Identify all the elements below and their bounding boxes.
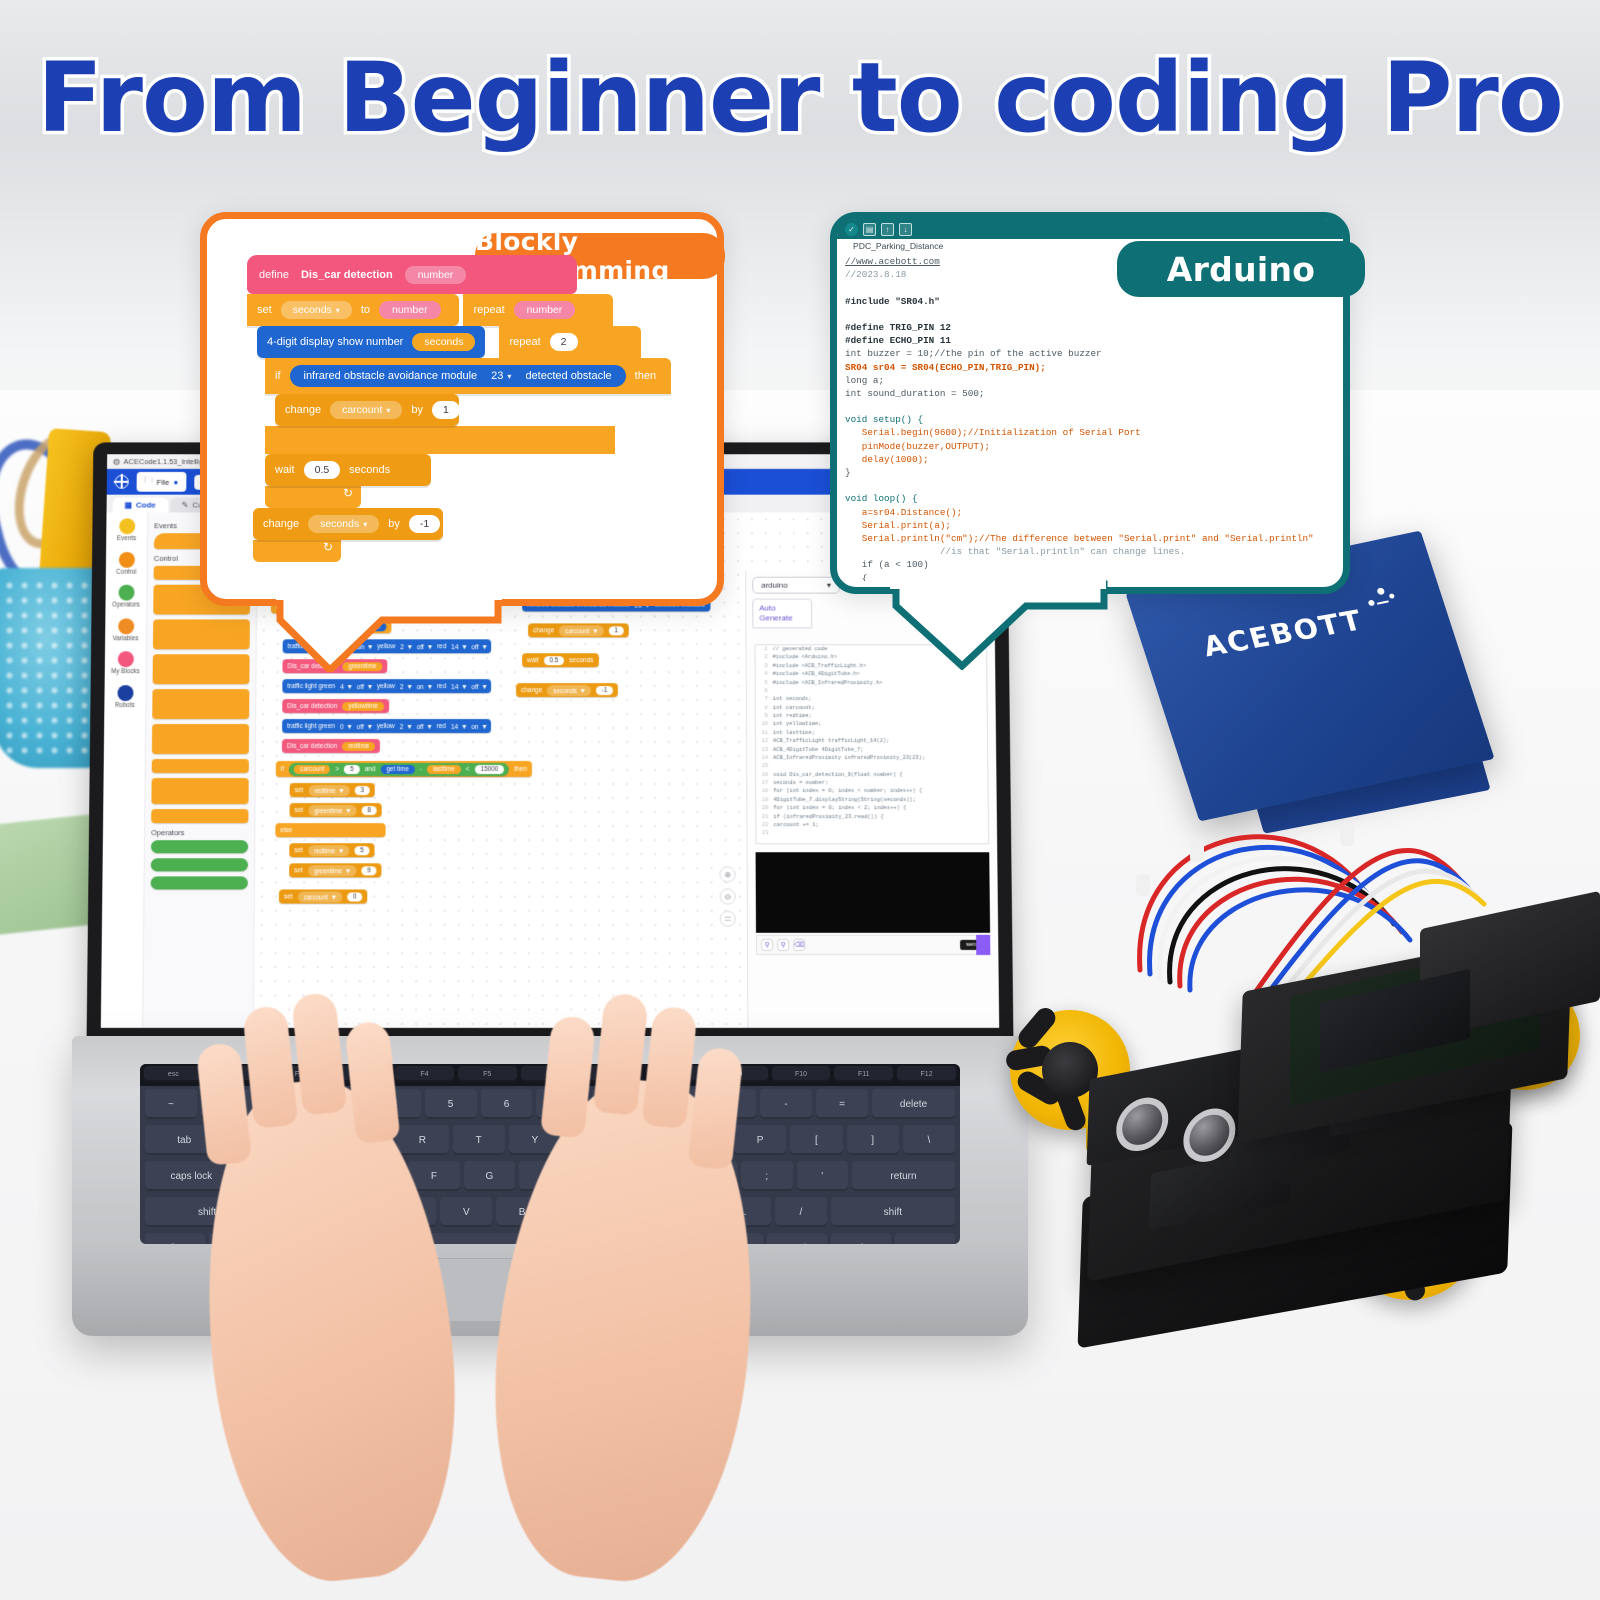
code-line-20: Serial.print(a); <box>845 520 951 531</box>
code-text: for (int index = 0; index < number; inde… <box>773 787 922 795</box>
palette-block-operator-1[interactable] <box>151 840 248 853</box>
canvas-redtime-5: 5 <box>354 846 370 855</box>
canvas-block-set-redtime[interactable]: set redtime 3 <box>290 783 375 797</box>
key-f4[interactable]: F4 <box>395 1066 454 1082</box>
code-text: int yellowtime; <box>773 720 822 728</box>
canvas-cond-gettime[interactable]: get time <box>380 765 414 774</box>
define-param[interactable]: number <box>405 266 467 284</box>
key-f5[interactable]: F5 <box>458 1066 517 1082</box>
events-dot-icon <box>119 518 135 534</box>
canvas-carcount-0: 0 <box>347 892 363 901</box>
code-text: int redtime; <box>773 712 812 720</box>
canvas-traffic-y3s[interactable]: off <box>416 722 431 731</box>
canvas-traffic-label-2: traffic light green <box>287 683 335 690</box>
canvas-traffic-r2s[interactable]: off <box>471 682 486 691</box>
canvas-var-redtime-2[interactable]: redtime <box>308 845 349 856</box>
code-line-7: int buzzer = 10;//the pin of the active … <box>845 348 1102 359</box>
code-text: #include <ACB_InfraredProximity.h> <box>773 679 883 687</box>
canvas-col2-change2-label: change <box>521 687 542 694</box>
code-text: ACB_InfraredProximity infraredProximity_… <box>773 754 925 762</box>
code-line-23: if (a < 100) <box>845 559 929 570</box>
acebott-logo-icon <box>1364 585 1400 612</box>
key-f12[interactable]: F12 <box>897 1066 956 1082</box>
canvas-traffic-r3l: red <box>437 723 446 730</box>
repeat2-loop-arrow-icon: ↻ <box>265 486 361 508</box>
code-text: // generated code <box>772 645 827 653</box>
blockly-callout: Blockly Programming define Dis_car detec… <box>200 212 724 606</box>
canvas-traffic-g2[interactable]: 4 <box>340 682 352 691</box>
canvas-block-set-greentime-2[interactable]: set greentime 9 <box>289 863 382 877</box>
key-delete[interactable]: delete <box>872 1089 955 1119</box>
canvas-col2-by-neg1: -1 <box>596 686 614 695</box>
repeat2-value[interactable]: 2 <box>550 333 578 351</box>
tab-code-label: Code <box>136 501 156 510</box>
canvas-col2-wait-unit: seconds <box>569 657 593 664</box>
brush-icon: ✎ <box>182 501 189 510</box>
canvas-cond-and: and <box>365 766 376 773</box>
new-file-icon[interactable]: ▤ <box>863 223 876 236</box>
canvas-col2-change-label: change <box>533 627 554 634</box>
key-5[interactable]: 5 <box>425 1089 477 1119</box>
key-esc[interactable]: esc <box>144 1066 203 1082</box>
palette-block-forever[interactable] <box>153 619 250 649</box>
key-fn[interactable]: fn <box>145 1233 205 1244</box>
code-text: void Dis_car_detection_9(float number) { <box>773 771 903 779</box>
code-text: #include <ACB_TrafficLight.h> <box>773 662 867 670</box>
repeat-value[interactable]: number <box>514 301 576 319</box>
robots-label: Robots <box>115 703 135 710</box>
code-text: ACB_4DigitTube 4DigitTube_7; <box>773 745 864 753</box>
canvas-traffic-label-3: traffic light green <box>287 723 335 730</box>
canvas-greentime-9: 9 <box>361 866 377 875</box>
palette-block-operator-2[interactable] <box>151 858 248 871</box>
category-column: Events Control Operators Variables <box>101 512 148 1027</box>
display-label: 4-digit display show number <box>267 336 403 348</box>
palette-block-wait-until[interactable] <box>152 759 249 773</box>
upload-icon[interactable]: ↑ <box>881 223 894 236</box>
key-backslash[interactable]: \ <box>903 1125 955 1155</box>
change2-by-label: by <box>388 518 400 530</box>
set-label: set <box>257 304 272 316</box>
canvas-traffic-y2[interactable]: 2 <box>400 682 412 691</box>
code-line-21: Serial.println("cm");//The difference be… <box>845 533 1314 544</box>
code-line-10: int sound_duration = 500; <box>845 388 984 399</box>
code-line-6: #define ECHO_PIN 11 <box>845 335 951 346</box>
canvas-traffic-r2[interactable]: 14 <box>451 682 466 691</box>
code-line-5: #define TRIG_PIN 12 <box>845 322 951 333</box>
code-text: ACB_TrafficLight trafficLight_14(2); <box>773 737 890 745</box>
key-semicolon[interactable]: ; <box>741 1161 792 1191</box>
code-line-16: } <box>845 467 851 478</box>
canvas-cond-lt: < <box>466 766 470 773</box>
key-equal[interactable]: = <box>816 1089 868 1119</box>
key-quote[interactable]: ' <box>797 1161 848 1191</box>
if-label: if <box>275 370 281 382</box>
code-line: 10int yellowtime; <box>756 720 987 728</box>
clear-icon[interactable]: ⌫ <box>793 939 805 951</box>
code-line: 14ACB_InfraredProximity infraredProximit… <box>756 754 987 762</box>
canvas-traffic-g3s[interactable]: off <box>357 722 372 731</box>
canvas-set-greentime-label: set <box>295 807 304 814</box>
key-p[interactable]: P <box>734 1125 786 1155</box>
change-label: change <box>285 404 321 416</box>
canvas-col2-carcount[interactable]: carcount <box>559 625 603 636</box>
palette-heading-operators: Operators <box>151 828 248 837</box>
tab-code[interactable]: ▦ Code <box>112 498 167 513</box>
arduino-code[interactable]: //www.acebott.com //2023.8.18 #include "… <box>845 255 1333 581</box>
canvas-block-set-carcount-0[interactable]: set carcount 0 <box>279 889 368 903</box>
chevron-down-icon: ▾ <box>827 581 831 590</box>
canvas-traffic-r2l: red <box>437 683 446 690</box>
code-line-13: Serial.begin(9600);//Initialization of S… <box>845 427 1141 438</box>
key-slash[interactable]: / <box>775 1197 827 1227</box>
code-line: 12ACB_TrafficLight trafficLight_14(2); <box>756 737 987 745</box>
my-blocks-dot-icon <box>117 652 133 668</box>
book-brand-label: ACEBOTT <box>1199 604 1366 664</box>
canvas-col2-seconds-var[interactable]: seconds <box>547 685 590 696</box>
operators-dot-icon <box>118 585 134 601</box>
generated-code-preview[interactable]: 1// generated code 2#include <Arduino.h>… <box>755 644 990 844</box>
key-v[interactable]: V <box>440 1197 492 1227</box>
change-value[interactable]: 1 <box>432 401 460 419</box>
canvas-cond-gt: > <box>335 766 339 773</box>
code-line: 22 carcount += 1; <box>756 821 988 829</box>
code-line-15: delay(1000); <box>845 454 929 465</box>
code-line-9: long a; <box>845 375 884 386</box>
code-line: 7int seconds; <box>756 695 987 703</box>
block-ir-condition[interactable]: infrared obstacle avoidance module 23 de… <box>290 365 626 387</box>
palette-block-else[interactable] <box>152 724 249 754</box>
set-to-label: to <box>361 304 370 316</box>
key-g[interactable]: G <box>464 1161 515 1191</box>
canvas-block-col2-change2[interactable]: change seconds -1 <box>516 683 618 697</box>
key-r[interactable]: R <box>396 1125 448 1155</box>
canvas-block-traffic-2[interactable]: traffic light green 4 off yellow 2 on re… <box>282 679 491 693</box>
code-line-1: //2023.8.18 <box>845 269 906 280</box>
mode-select[interactable]: arduino ▾ <box>752 577 840 594</box>
canvas-block-set-redtime-2[interactable]: set redtime 5 <box>289 843 375 857</box>
code-line-14: pinMode(buzzer,OUTPUT); <box>845 441 990 452</box>
block-define-inner: define Dis_car detection number <box>259 266 466 284</box>
arduino-toolbar: ✓ ▤ ↑ ↓ <box>837 219 1343 239</box>
canvas-traffic-y2s[interactable]: on <box>417 682 432 691</box>
save-icon[interactable]: ↓ <box>899 223 912 236</box>
my-blocks-label: My Blocks <box>111 670 140 677</box>
palette-block-operator-3[interactable] <box>151 876 248 889</box>
canvas-block-set-greentime[interactable]: set greentime 8 <box>290 803 382 817</box>
canvas-dis-label-3: Dis_car detection <box>287 742 337 749</box>
code-line: 8int carcount; <box>756 704 987 712</box>
canvas-traffic-g2s[interactable]: off <box>357 682 372 691</box>
wait-label: wait <box>275 464 295 476</box>
change2-variable[interactable]: seconds <box>308 515 379 533</box>
control-dot-icon <box>118 552 134 568</box>
canvas-traffic-y3l: yellow <box>377 723 395 730</box>
palette-block-if[interactable] <box>153 654 250 684</box>
code-text: if (infraredProximity_23.read()) { <box>773 813 883 821</box>
auto-generate-button[interactable]: Auto Generate <box>752 599 812 629</box>
change-variable[interactable]: carcount <box>330 401 402 419</box>
globe-icon[interactable] <box>115 475 129 489</box>
canvas-block-traffic-3[interactable]: traffic light green 0 off yellow 2 off r… <box>282 719 491 733</box>
canvas-dis-label-2: Dis_car detection <box>287 703 337 710</box>
code-line: 19 4DigitTube_7.displayString(String(sec… <box>756 796 987 804</box>
canvas-cond-carcount[interactable]: carcount <box>294 765 330 774</box>
canvas-else-label: else <box>280 827 292 834</box>
control-label: Control <box>116 569 136 576</box>
code-line-22: //is that "Serial.println" can change li… <box>845 546 1185 557</box>
canvas-set-redtime-label: set <box>295 787 304 794</box>
canvas-cond-lasttime[interactable]: lasttime <box>427 765 461 774</box>
key-arrows[interactable]: ◂▸ <box>895 1233 955 1244</box>
canvas-greentime-8: 8 <box>361 806 377 815</box>
code-line: 11int lasttime; <box>756 729 987 737</box>
code-line-0: //www.acebott.com <box>845 256 940 267</box>
code-line: 16void Dis_car_detection_9(float number)… <box>756 771 987 779</box>
canvas-traffic-y2l: yellow <box>377 683 395 690</box>
verify-icon[interactable]: ✓ <box>845 223 858 236</box>
canvas-traffic-y3[interactable]: 2 <box>400 722 412 731</box>
then-label: then <box>635 370 656 382</box>
variables-dot-icon <box>118 618 134 634</box>
code-line: 17 seconds = number; <box>756 779 987 787</box>
folder-icon: 🗀 <box>145 475 153 489</box>
robot-car <box>1000 760 1600 1320</box>
if-body-spacer <box>265 426 615 454</box>
arduino-callout: ✓ ▤ ↑ ↓ PDC_Parking_Distance Arduino //w… <box>830 212 1350 594</box>
key-shift-right[interactable]: shift <box>831 1197 955 1227</box>
canvas-if-label: if <box>281 766 284 773</box>
code-line: 21 if (infraredProximity_23.read()) { <box>756 813 988 821</box>
code-text: for (int index = 0; index < 2; index++) … <box>773 804 906 812</box>
code-line: 13ACB_4DigitTube 4DigitTube_7; <box>756 745 987 753</box>
code-text: 4DigitTube_7.displayString(String(second… <box>773 796 916 804</box>
key-f10[interactable]: F10 <box>772 1066 831 1082</box>
menu-file-label: File <box>157 477 170 486</box>
operators-label: Operators <box>112 603 140 610</box>
arduino-callout-tail <box>890 580 1110 670</box>
canvas-condition[interactable]: carcount > 5 and get time - lasttime < 1… <box>289 762 509 775</box>
canvas-var-carcount-0[interactable]: carcount <box>298 891 342 902</box>
canvas-redtime[interactable]: redtime <box>342 741 375 750</box>
change2-value[interactable]: -1 <box>409 515 440 533</box>
canvas-cond-5: 5 <box>344 765 360 774</box>
canvas-set-greentime-label-2: set <box>294 867 303 874</box>
code-text: #include <ACB_4DigitTube.h> <box>773 670 860 678</box>
code-line-24: { <box>845 573 867 582</box>
variables-label: Variables <box>113 636 139 643</box>
code-text: int seconds; <box>773 695 812 703</box>
code-line: 23 <box>756 829 988 837</box>
code-line-12: void setup() { <box>845 414 923 425</box>
code-line-8: SR04 sr04 = SR04(ECHO_PIN,TRIG_PIN); <box>845 362 1046 373</box>
key-option-right[interactable]: alt <box>831 1233 891 1244</box>
code-line-3: #include "SR04.h" <box>845 296 940 307</box>
zoom-controls: ⊕ ⊖ ＝ <box>720 866 736 926</box>
define-label: define <box>259 269 289 281</box>
canvas-col2-wait-val: 0.5 <box>544 656 565 665</box>
set-value[interactable]: number <box>379 301 441 319</box>
block-repeat-2[interactable]: repeat 2 <box>499 326 641 358</box>
zoom-reset-icon[interactable]: ＝ <box>720 911 736 927</box>
canvas-traffic-r3s[interactable]: on <box>471 722 486 731</box>
code-line-19: a=sr04.Distance(); <box>845 507 962 518</box>
window-icon: ◍ <box>113 457 120 466</box>
serial-monitor-bar: ⚲ ⚲ ⌫ send <box>756 935 990 955</box>
sidebar-item-control[interactable]: Control <box>106 552 147 576</box>
canvas-block-col2-wait[interactable]: wait 0.5 seconds <box>522 653 598 667</box>
display-value[interactable]: seconds <box>412 333 475 351</box>
code-text: seconds = number; <box>773 779 828 787</box>
code-line: 20 for (int index = 0; index < 2; index+… <box>756 804 987 812</box>
change2-label: change <box>263 518 299 530</box>
events-label: Events <box>117 536 136 543</box>
code-line: 5#include <ACB_InfraredProximity.h> <box>756 679 987 687</box>
canvas-col2-wait-label: wait <box>527 657 539 664</box>
canvas-block-if[interactable]: if carcount > 5 and get time - lasttime … <box>276 761 532 777</box>
key-lbracket[interactable]: [ <box>790 1125 842 1155</box>
block-change-seconds[interactable]: change seconds by -1 <box>253 508 443 540</box>
robots-dot-icon <box>117 685 133 701</box>
canvas-var-greentime[interactable]: greentime <box>308 805 356 816</box>
block-set-seconds[interactable]: set seconds to number <box>247 294 459 326</box>
canvas-block-col2-change[interactable]: change carcount 1 <box>528 623 629 637</box>
sidebar-item-my-blocks[interactable]: My Blocks <box>105 652 146 677</box>
ir-pin[interactable]: 23 <box>491 370 511 382</box>
ir-label: infrared obstacle avoidance module <box>304 370 478 382</box>
key-rbracket[interactable]: ] <box>847 1125 899 1155</box>
sidebar-item-robots[interactable]: Robots <box>104 685 145 710</box>
block-repeat-number[interactable]: repeat number <box>463 294 613 326</box>
key-tilde[interactable]: ~ <box>145 1089 197 1119</box>
sidebar-item-variables[interactable]: Variables <box>105 618 146 642</box>
key-t[interactable]: T <box>453 1125 505 1155</box>
code-icon: ▦ <box>124 501 132 510</box>
sidebar-item-operators[interactable]: Operators <box>105 585 146 609</box>
repeat-loop-arrow-icon: ↻ <box>253 540 341 562</box>
code-text: int lasttime; <box>773 729 815 737</box>
code-text: int carcount; <box>773 704 815 712</box>
code-text: carcount += 1; <box>773 821 818 829</box>
file-tab[interactable]: PDC_Parking_Distance <box>845 239 951 253</box>
code-text: #include <Arduino.h> <box>773 654 838 662</box>
page-title: From Beginner to coding Pro <box>0 42 1600 154</box>
zoom-out-icon[interactable]: ⊖ <box>720 888 736 904</box>
canvas-block-else[interactable]: else <box>275 823 385 837</box>
block-if-then[interactable]: if infrared obstacle avoidance module 23… <box>265 358 671 394</box>
canvas-redtime-3: 3 <box>354 786 370 795</box>
ir-state: detected obstacle <box>525 370 611 382</box>
canvas-var-greentime-2[interactable]: greentime <box>308 865 356 876</box>
set-variable[interactable]: seconds <box>281 301 352 319</box>
canvas-col2-by-1: 1 <box>608 626 623 635</box>
canvas-cond-15000: 15000 <box>475 765 505 774</box>
zoom-in-icon[interactable]: ⊕ <box>720 866 736 882</box>
canvas-set-carcount-label: set <box>284 893 293 900</box>
code-line-18: void loop() { <box>845 493 918 504</box>
canvas-block-dis-red[interactable]: Dis_car detection redtime <box>282 739 380 753</box>
canvas-yellowtime[interactable]: yellowtime <box>342 702 383 711</box>
block-wait[interactable]: wait 0.5 seconds <box>265 454 431 486</box>
plug-icon[interactable]: ⚲ <box>761 939 773 951</box>
code-line: 6 <box>756 687 987 695</box>
canvas-traffic-g3[interactable]: 0 <box>340 722 352 731</box>
serial-monitor-output <box>756 852 991 933</box>
block-4digit-display[interactable]: 4-digit display show number seconds <box>257 326 485 358</box>
canvas-set-redtime-label-2: set <box>294 847 303 854</box>
code-line: 18 for (int index = 0; index < number; i… <box>756 787 987 795</box>
change-by-label: by <box>411 404 423 416</box>
canvas-cond-minus: - <box>420 766 422 773</box>
canvas-traffic-r3[interactable]: 14 <box>451 722 466 731</box>
wait-unit: seconds <box>349 464 390 476</box>
serial-accent-bar <box>976 935 990 955</box>
palette-block-break-loop[interactable] <box>151 809 248 823</box>
key-6[interactable]: 6 <box>481 1089 533 1119</box>
palette-block-if-else[interactable] <box>152 689 249 719</box>
key-f11[interactable]: F11 <box>834 1066 893 1082</box>
repeat2-label: repeat <box>509 336 540 348</box>
blockly-callout-tail <box>270 592 510 672</box>
key-return[interactable]: return <box>852 1161 955 1191</box>
sidebar-item-events[interactable]: Events <box>106 518 147 542</box>
block-define[interactable]: define Dis_car detection number <box>247 255 577 294</box>
code-line: 4#include <ACB_4DigitTube.h> <box>756 670 987 678</box>
code-line: 15 <box>756 762 987 770</box>
settings-icon: ● <box>173 477 178 486</box>
key-command-right[interactable]: cmd <box>767 1233 827 1244</box>
menu-file[interactable]: 🗀 File ● <box>137 472 187 492</box>
wait-value[interactable]: 0.5 <box>304 461 341 479</box>
canvas-then-label: then <box>514 766 527 773</box>
mode-select-value: arduino <box>761 581 788 590</box>
code-line: 9int redtime; <box>756 712 987 720</box>
canvas-var-redtime[interactable]: redtime <box>308 785 349 796</box>
define-name: Dis_car detection <box>301 269 393 281</box>
palette-block-repeat-until[interactable] <box>151 778 248 804</box>
canvas-block-dis-yellow[interactable]: Dis_car detection yellowtime <box>282 699 389 713</box>
key-minus[interactable]: - <box>760 1089 812 1119</box>
repeat-label: repeat <box>473 304 504 316</box>
plug-icon-2[interactable]: ⚲ <box>777 939 789 951</box>
blockly-block-stack: define Dis_car detection number set seco… <box>247 255 687 562</box>
block-change-carcount[interactable]: change carcount by 1 <box>275 394 459 426</box>
